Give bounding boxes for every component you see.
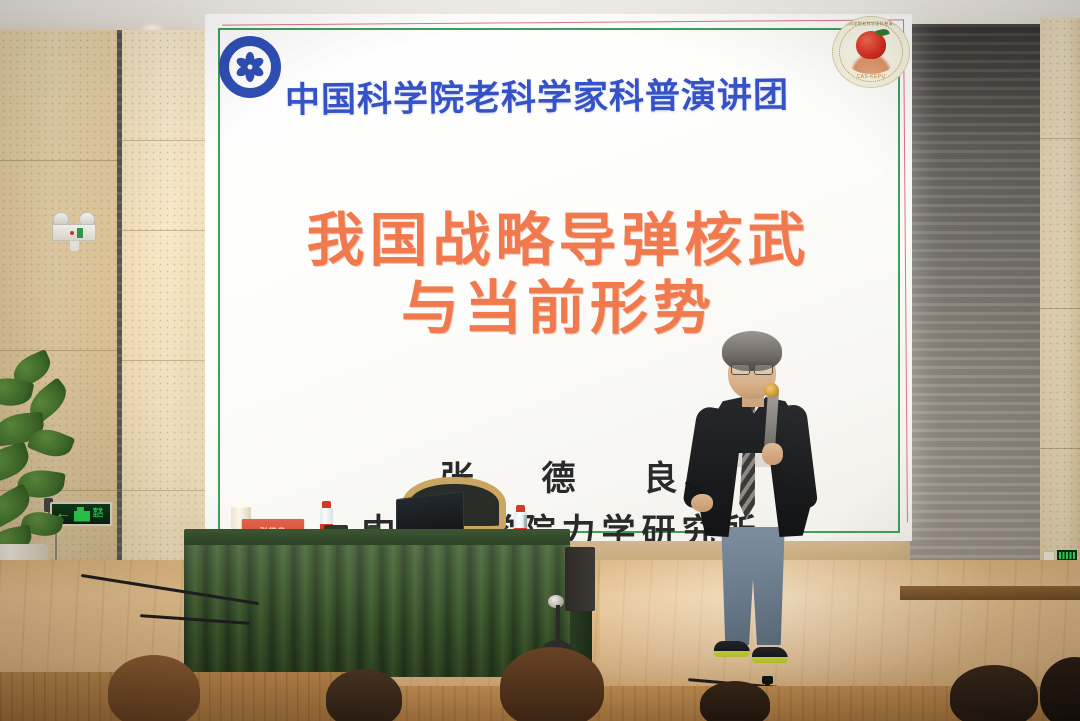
audience-head	[950, 665, 1038, 721]
panel-seam	[122, 490, 217, 491]
column-stripes	[910, 24, 1043, 590]
indicator-red	[70, 231, 74, 235]
cas-emblem-icon	[219, 36, 281, 98]
presenter-shoe-right	[752, 647, 788, 663]
photo-scene: 中国科学院老科学家科普演讲团 CAS-KEPU 中国科学院老科学家科普演讲团 我…	[0, 0, 1080, 721]
emergency-light-stem	[69, 240, 80, 252]
audience-head	[500, 647, 604, 721]
baseboard-right	[900, 586, 1080, 600]
cas-core	[246, 63, 255, 72]
apple-arc-top-text: 中国科学院老科学家科普演讲团	[833, 21, 909, 27]
emergency-light-fixture	[52, 212, 96, 250]
perforation-pattern	[122, 30, 217, 610]
table-skirt	[184, 545, 570, 677]
panel-seam	[122, 140, 217, 141]
presenter-trousers	[720, 527, 786, 645]
exit-sign-right-glow	[1059, 552, 1075, 559]
floor-mic-head	[762, 676, 773, 684]
panel-seam	[1040, 138, 1080, 139]
indicator-green	[77, 228, 83, 238]
slide-title-line1: 我国战略导弹核武	[306, 206, 810, 274]
panel-seam	[1040, 448, 1080, 449]
glasses-icon	[730, 362, 774, 372]
panel-seam	[122, 360, 217, 361]
panel-seam	[1040, 308, 1080, 309]
panel-seam	[0, 350, 122, 351]
presenter-hand-right	[762, 443, 783, 465]
audience-head	[108, 655, 200, 721]
slide-header-text: 中国科学院老科学家科普演讲团	[285, 66, 846, 123]
panel-seam	[0, 160, 122, 161]
perforation-pattern	[1040, 18, 1080, 618]
emergency-light-body	[52, 224, 96, 241]
microphone-icon	[764, 383, 779, 398]
presenter-figure	[676, 331, 836, 681]
audience-head	[700, 681, 770, 721]
panel-seam	[122, 230, 217, 231]
audience-head	[326, 669, 402, 721]
dark-column-right	[910, 24, 1043, 590]
acoustic-wall-right	[1040, 18, 1080, 618]
table-skirt-shading	[184, 545, 570, 677]
presenter-shoe-left	[714, 641, 750, 657]
acoustic-wall-left-inner	[122, 30, 217, 610]
presenter-hand-left	[691, 494, 713, 512]
slide-title: 我国战略导弹核武 与当前形势	[205, 207, 912, 343]
monitor-speaker	[565, 547, 595, 611]
